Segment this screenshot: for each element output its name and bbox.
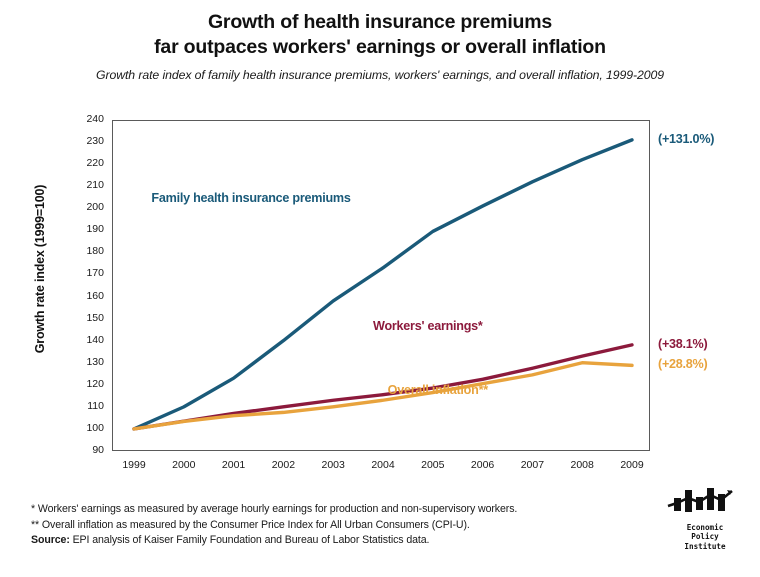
y-axis-tick: 160 [44, 291, 104, 302]
y-axis-tick: 110 [44, 401, 104, 412]
series-inline-label: Family health insurance premiums [151, 191, 350, 205]
source-label: Source: [31, 534, 70, 546]
y-axis-tick: 130 [44, 357, 104, 368]
series-end-label: (+131.0%) [658, 132, 714, 146]
y-axis-tick: 120 [44, 379, 104, 390]
series-inline-label: Workers' earnings* [373, 319, 483, 333]
series-lines [112, 120, 650, 451]
series-end-label: (+28.8%) [658, 357, 707, 371]
series-line [134, 140, 632, 429]
epi-logo-mark-icon [666, 486, 744, 522]
y-axis-tick: 190 [44, 224, 104, 235]
chart-header: Growth of health insurance premiums far … [0, 10, 760, 82]
y-axis-tick: 200 [44, 202, 104, 213]
series-inline-label: Overall inflation** [388, 383, 488, 397]
footnotes: * Workers' earnings as measured by avera… [31, 502, 631, 549]
epi-logo-line-3: Institute [666, 542, 744, 551]
y-axis-tick: 210 [44, 180, 104, 191]
source-line: Source: EPI analysis of Kaiser Family Fo… [31, 533, 631, 549]
chart-container: Growth rate index (1999=100) 90100110120… [0, 112, 760, 467]
source-text: EPI analysis of Kaiser Family Foundation… [73, 534, 430, 546]
y-axis-tick: 240 [44, 114, 104, 125]
chart-subtitle: Growth rate index of family health insur… [0, 68, 760, 82]
epi-logo-line-1: Economic [666, 523, 744, 532]
epi-logo-line-2: Policy [666, 532, 744, 541]
footnote-overall-inflation: ** Overall inflation as measured by the … [31, 518, 631, 534]
x-axis-tick: 2009 [602, 459, 662, 471]
epi-logo: Economic Policy Institute [666, 486, 744, 564]
y-axis-tick: 140 [44, 335, 104, 346]
page-title-line-2: far outpaces workers' earnings or overal… [0, 35, 760, 60]
y-axis-tick: 220 [44, 158, 104, 169]
y-axis-tick: 90 [44, 445, 104, 456]
y-axis-tick: 230 [44, 136, 104, 147]
y-axis-tick: 170 [44, 268, 104, 279]
y-axis-tick: 180 [44, 246, 104, 257]
series-end-label: (+38.1%) [658, 337, 707, 351]
page-title-line-1: Growth of health insurance premiums [0, 10, 760, 35]
y-axis-tick: 150 [44, 313, 104, 324]
series-line [134, 345, 632, 429]
y-axis-tick: 100 [44, 423, 104, 434]
epi-logo-text: Economic Policy Institute [666, 523, 744, 551]
footnote-workers-earnings: * Workers' earnings as measured by avera… [31, 502, 631, 518]
